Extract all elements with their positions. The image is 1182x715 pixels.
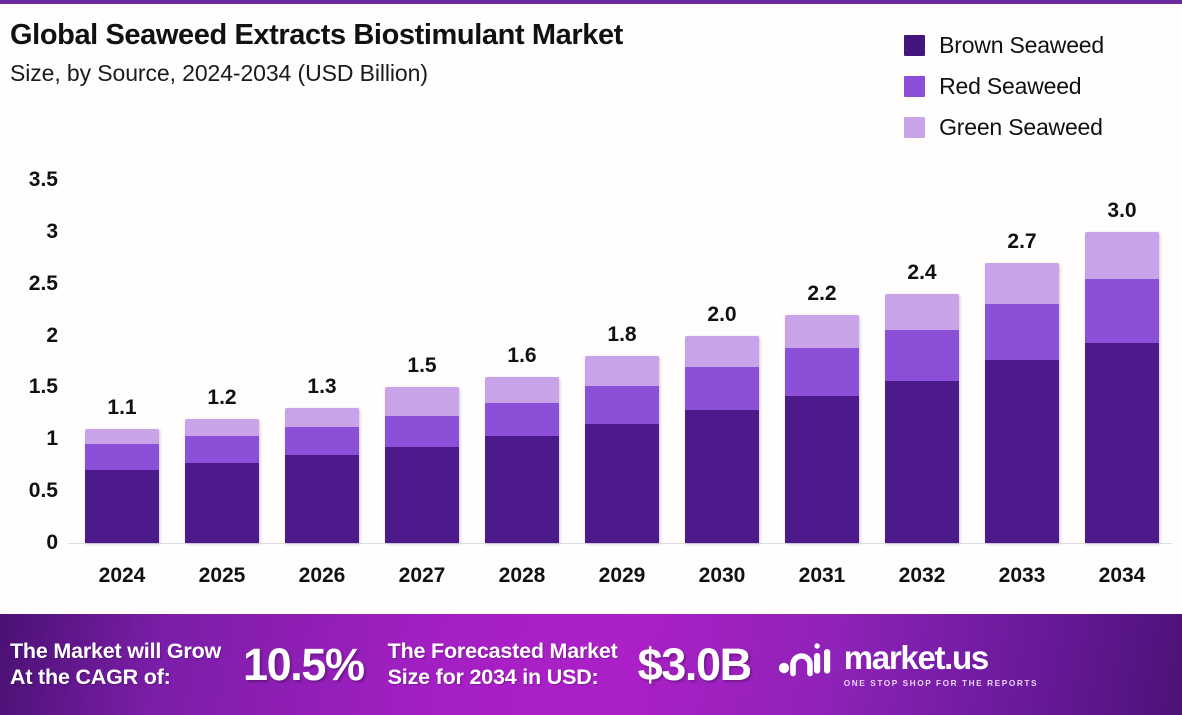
- x-axis-tick-label: 2029: [572, 564, 672, 588]
- bar-value-label: 1.2: [172, 386, 272, 410]
- stacked-bar[interactable]: [785, 315, 859, 543]
- stacked-bar[interactable]: [185, 419, 259, 543]
- x-axis-tick-label: 2030: [672, 564, 772, 588]
- bar-segment-green-seaweed[interactable]: [985, 263, 1059, 304]
- bar-value-label: 1.6: [472, 344, 572, 368]
- bar-group[interactable]: 1.12024: [72, 4, 172, 609]
- bar-segment-brown-seaweed[interactable]: [1085, 343, 1159, 543]
- bar-value-label: 1.3: [272, 375, 372, 399]
- cagr-caption: The Market will Grow At the CAGR of:: [10, 639, 221, 691]
- x-axis-tick-label: 2025: [172, 564, 272, 588]
- bar-segment-brown-seaweed[interactable]: [185, 463, 259, 543]
- stacked-bar[interactable]: [685, 336, 759, 543]
- brand-tagline: ONE STOP SHOP FOR THE REPORTS: [844, 678, 1038, 688]
- bar-value-label: 1.5: [372, 354, 472, 378]
- stacked-bar[interactable]: [585, 356, 659, 543]
- brand-logo-text: market.us ONE STOP SHOP FOR THE REPORTS: [844, 641, 1038, 688]
- bar-segment-green-seaweed[interactable]: [485, 377, 559, 403]
- stacked-bar[interactable]: [1085, 232, 1159, 543]
- bar-segment-green-seaweed[interactable]: [1085, 232, 1159, 279]
- bar-value-label: 2.2: [772, 282, 872, 306]
- bar-segment-green-seaweed[interactable]: [785, 315, 859, 348]
- bar-segment-red-seaweed[interactable]: [785, 348, 859, 396]
- bar-group[interactable]: 2.42032: [872, 4, 972, 609]
- bar-segment-brown-seaweed[interactable]: [285, 455, 359, 543]
- bar-segment-red-seaweed[interactable]: [585, 386, 659, 423]
- bar-group[interactable]: 1.82029: [572, 4, 672, 609]
- bar-group[interactable]: 1.22025: [172, 4, 272, 609]
- x-axis-tick-label: 2032: [872, 564, 972, 588]
- bar-value-label: 2.7: [972, 230, 1072, 254]
- bar-group[interactable]: 3.02034: [1072, 4, 1172, 609]
- bar-segment-brown-seaweed[interactable]: [885, 381, 959, 543]
- y-axis-tick-label: 3.5: [29, 168, 58, 192]
- bar-segment-green-seaweed[interactable]: [185, 419, 259, 437]
- x-axis-tick-label: 2028: [472, 564, 572, 588]
- market-us-logo-icon: [777, 642, 835, 687]
- bar-segment-brown-seaweed[interactable]: [385, 447, 459, 543]
- bar-segment-red-seaweed[interactable]: [385, 416, 459, 446]
- y-axis-tick-label: 3: [46, 220, 58, 244]
- bar-segment-red-seaweed[interactable]: [85, 444, 159, 470]
- cagr-caption-line1: The Market will Grow: [10, 639, 221, 665]
- forecast-size-caption-line2: Size for 2034 in USD:: [388, 665, 618, 691]
- chart-infographic: Global Seaweed Extracts Biostimulant Mar…: [0, 0, 1182, 715]
- bar-group[interactable]: 1.52027: [372, 4, 472, 609]
- chart-plot-area: 00.511.522.533.5 1.120241.220251.320261.…: [0, 4, 1182, 609]
- bar-segment-red-seaweed[interactable]: [185, 436, 259, 463]
- bar-segment-green-seaweed[interactable]: [885, 294, 959, 330]
- bar-group[interactable]: 1.32026: [272, 4, 372, 609]
- stacked-bar[interactable]: [85, 429, 159, 543]
- bar-segment-red-seaweed[interactable]: [985, 304, 1059, 360]
- bar-value-label: 2.0: [672, 303, 772, 327]
- bar-segment-brown-seaweed[interactable]: [985, 360, 1059, 543]
- stacked-bar[interactable]: [285, 408, 359, 543]
- bar-segment-brown-seaweed[interactable]: [685, 410, 759, 543]
- bar-value-label: 2.4: [872, 261, 972, 285]
- x-axis-tick-label: 2034: [1072, 564, 1172, 588]
- y-axis-tick-label: 1: [46, 427, 58, 451]
- x-axis-tick-label: 2031: [772, 564, 872, 588]
- bar-segment-brown-seaweed[interactable]: [485, 436, 559, 543]
- cagr-caption-line2: At the CAGR of:: [10, 665, 221, 691]
- bar-segment-green-seaweed[interactable]: [285, 408, 359, 427]
- bar-segment-green-seaweed[interactable]: [85, 429, 159, 445]
- x-axis-tick-label: 2024: [72, 564, 172, 588]
- bar-value-label: 1.8: [572, 323, 672, 347]
- bar-segment-red-seaweed[interactable]: [885, 330, 959, 381]
- bar-segment-green-seaweed[interactable]: [685, 336, 759, 367]
- x-axis-tick-label: 2027: [372, 564, 472, 588]
- bar-series-container: 1.120241.220251.320261.520271.620281.820…: [72, 4, 1172, 609]
- bar-segment-brown-seaweed[interactable]: [85, 470, 159, 543]
- bar-segment-brown-seaweed[interactable]: [785, 396, 859, 543]
- stacked-bar[interactable]: [985, 263, 1059, 543]
- bar-group[interactable]: 2.72033: [972, 4, 1072, 609]
- y-axis-tick-label: 1.5: [29, 375, 58, 399]
- brand-name: market.us: [844, 641, 1038, 674]
- bar-segment-green-seaweed[interactable]: [585, 356, 659, 386]
- stacked-bar[interactable]: [385, 387, 459, 543]
- forecast-size-caption-line1: The Forecasted Market: [388, 639, 618, 665]
- bar-group[interactable]: 1.62028: [472, 4, 572, 609]
- forecast-size-value: $3.0B: [638, 639, 751, 691]
- bar-segment-green-seaweed[interactable]: [385, 387, 459, 416]
- forecast-size-caption: The Forecasted Market Size for 2034 in U…: [388, 639, 618, 691]
- bar-segment-red-seaweed[interactable]: [285, 427, 359, 455]
- stacked-bar[interactable]: [485, 377, 559, 543]
- bar-value-label: 3.0: [1072, 199, 1172, 223]
- bar-group[interactable]: 2.02030: [672, 4, 772, 609]
- bar-segment-brown-seaweed[interactable]: [585, 424, 659, 543]
- brand-logo[interactable]: market.us ONE STOP SHOP FOR THE REPORTS: [777, 641, 1038, 688]
- bar-segment-red-seaweed[interactable]: [1085, 279, 1159, 343]
- y-axis-tick-label: 2.5: [29, 272, 58, 296]
- y-axis-tick-label: 2: [46, 324, 58, 348]
- x-axis-tick-label: 2026: [272, 564, 372, 588]
- x-axis-tick-label: 2033: [972, 564, 1072, 588]
- bar-segment-red-seaweed[interactable]: [685, 367, 759, 411]
- cagr-value: 10.5%: [243, 639, 364, 691]
- y-axis-tick-label: 0: [46, 531, 58, 555]
- bar-group[interactable]: 2.22031: [772, 4, 872, 609]
- stacked-bar[interactable]: [885, 294, 959, 543]
- bar-value-label: 1.1: [72, 396, 172, 420]
- bar-segment-red-seaweed[interactable]: [485, 403, 559, 436]
- y-axis-tick-label: 0.5: [29, 479, 58, 503]
- footer-banner: The Market will Grow At the CAGR of: 10.…: [0, 614, 1182, 715]
- y-axis: 00.511.522.533.5: [0, 4, 68, 609]
